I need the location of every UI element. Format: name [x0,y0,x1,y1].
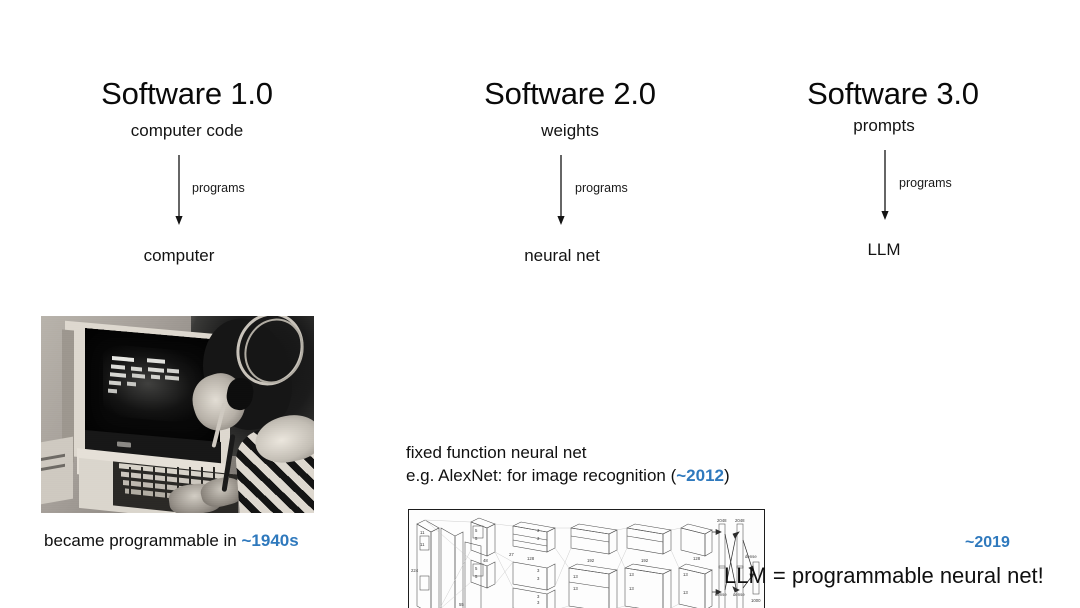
svg-text:2048: 2048 [717,518,727,523]
svg-text:192: 192 [641,558,649,563]
terminal-photo [41,316,314,513]
svg-text:5: 5 [475,574,478,579]
svg-text:48: 48 [483,558,488,563]
caption-software-2-prefix: e.g. AlexNet: for image recognition ( [406,466,676,485]
edge-label-software-2: programs [575,181,628,195]
svg-text:13: 13 [683,572,688,577]
caption-software-1-year: ~1940s [241,531,298,550]
svg-text:3: 3 [537,594,540,599]
svg-text:13: 13 [629,586,634,591]
svg-text:5: 5 [475,528,478,533]
svg-text:192: 192 [587,558,595,563]
arrow-software-1 [170,155,188,227]
alexnet-diagram: 224 224 3 11 11 Stride of 4 55 48 48 5 5… [408,509,765,608]
svg-text:13: 13 [683,590,688,595]
svg-text:dense: dense [715,592,727,597]
conclusion-text: LLM = programmable neural net! [724,563,1044,588]
caption-software-1: became programmable in ~1940s [44,528,299,553]
svg-text:3: 3 [537,576,540,581]
svg-text:1000: 1000 [751,598,761,603]
svg-text:13: 13 [573,586,578,591]
slide-canvas: Software 1.0 computer code programs comp… [0,0,1080,608]
svg-text:13: 13 [629,572,634,577]
svg-text:3: 3 [537,600,540,605]
column-title-software-1: Software 1.0 [101,76,273,112]
caption-software-2-year: ~2012 [676,466,724,485]
caption-software-2-line1: fixed function neural net [406,440,587,465]
svg-text:2048: 2048 [735,518,745,523]
column-target-software-3: LLM [867,240,900,260]
svg-text:5: 5 [475,566,478,571]
caption-software-2-line2: e.g. AlexNet: for image recognition (~20… [406,463,730,488]
alexnet-svg: 224 224 3 11 11 Stride of 4 55 48 48 5 5… [409,510,764,608]
svg-text:5: 5 [475,536,478,541]
column-source-software-3: prompts [853,116,914,136]
svg-text:128: 128 [693,556,701,561]
svg-text:dense: dense [733,592,745,597]
column-target-software-1: computer [144,246,215,266]
svg-text:55: 55 [459,602,464,607]
caption-software-2-suffix: ) [724,466,730,485]
caption-software-3-year: ~2019 [965,534,1010,552]
svg-text:3: 3 [537,568,540,573]
svg-text:dense: dense [745,554,757,559]
edge-label-software-1: programs [192,181,245,195]
svg-text:128: 128 [527,556,535,561]
svg-text:27: 27 [509,552,514,557]
svg-text:13: 13 [573,574,578,579]
arrow-software-3 [876,150,894,222]
column-target-software-2: neural net [524,246,600,266]
column-source-software-2: weights [541,121,599,141]
column-title-software-2: Software 2.0 [484,76,656,112]
column-title-software-3: Software 3.0 [807,76,979,112]
column-source-software-1: computer code [131,121,243,141]
svg-text:224: 224 [411,568,419,573]
edge-label-software-3: programs [899,176,952,190]
arrow-software-2 [552,155,570,227]
caption-software-1-text: became programmable in [44,531,241,550]
svg-text:11: 11 [420,530,425,535]
svg-text:11: 11 [420,542,425,547]
